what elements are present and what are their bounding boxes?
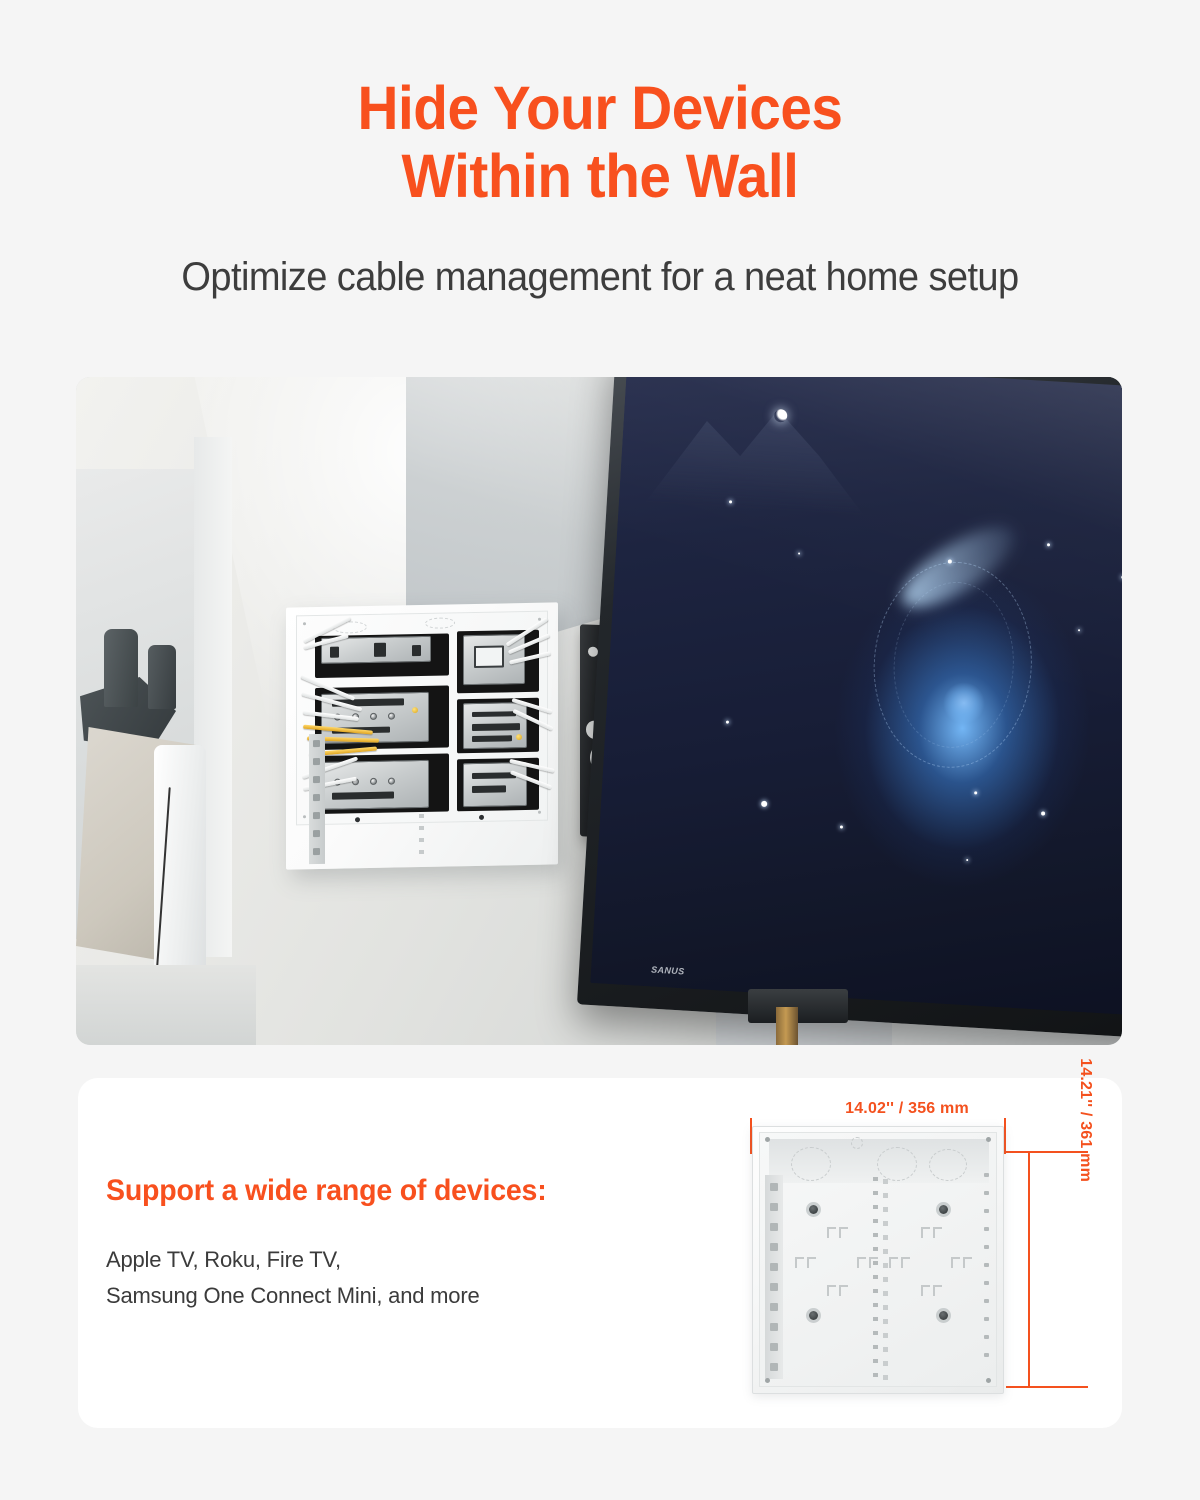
headline-line-2: Within the Wall bbox=[42, 142, 1158, 210]
card-title: Support a wide range of devices: bbox=[106, 1174, 676, 1208]
center-perforations bbox=[873, 1177, 878, 1387]
bracket-slot bbox=[921, 1227, 930, 1238]
dimension-line bbox=[1006, 1386, 1088, 1388]
prop-cylinder-a bbox=[104, 629, 138, 707]
bracket-slot bbox=[921, 1285, 930, 1296]
bracket-slot bbox=[839, 1285, 848, 1296]
mounting-hole bbox=[809, 1205, 818, 1214]
recessed-box-front-view bbox=[752, 1126, 1004, 1394]
bracket-slot bbox=[889, 1257, 898, 1268]
dimension-line bbox=[1004, 1118, 1006, 1154]
tv-mount-base bbox=[748, 989, 848, 1023]
product-dimension-diagram: 14.02'' / 356 mm 14.21'' / 361 mm bbox=[726, 1096, 1098, 1414]
supported-devices-list: Apple TV, Roku, Fire TV, Samsung One Con… bbox=[106, 1242, 706, 1313]
page-title: Hide Your Devices Within the Wall bbox=[42, 74, 1158, 211]
headline-line-1: Hide Your Devices bbox=[42, 74, 1158, 142]
height-dimension-label: 14.21'' / 361 mm bbox=[1076, 1058, 1094, 1182]
in-wall-media-box bbox=[286, 602, 558, 869]
knockout-icon bbox=[791, 1147, 831, 1181]
product-feature-page: Hide Your Devices Within the Wall Optimi… bbox=[0, 0, 1200, 1500]
bracket-slot bbox=[795, 1257, 804, 1268]
prop-white-panel bbox=[154, 745, 206, 995]
screw-holes bbox=[297, 612, 547, 825]
knockout-icon bbox=[851, 1137, 863, 1149]
mounting-rail bbox=[765, 1175, 783, 1379]
bracket-slot bbox=[933, 1227, 942, 1238]
bracket-slot bbox=[827, 1285, 836, 1296]
tv-mount-pole bbox=[776, 1007, 798, 1045]
mounting-hole bbox=[939, 1205, 948, 1214]
bracket-slot bbox=[901, 1257, 910, 1268]
box-top-band bbox=[769, 1139, 989, 1183]
wall-mounted-tv: SANUS bbox=[577, 377, 1122, 1041]
room-floor bbox=[76, 965, 256, 1045]
dimension-line bbox=[1006, 1151, 1088, 1153]
bracket-slot bbox=[839, 1227, 848, 1238]
knockout-icon bbox=[929, 1149, 967, 1181]
hero-scene: SANUS bbox=[76, 377, 1122, 1045]
tv-screen bbox=[590, 377, 1122, 1018]
page-header: Hide Your Devices Within the Wall Optimi… bbox=[0, 0, 1200, 301]
bracket-slot bbox=[963, 1257, 972, 1268]
hero-photo: SANUS bbox=[76, 377, 1122, 1045]
center-perforations bbox=[883, 1179, 888, 1385]
media-box-interior bbox=[296, 611, 548, 826]
list-item: Samsung One Connect Mini, and more bbox=[106, 1278, 706, 1314]
bracket-slot bbox=[827, 1227, 836, 1238]
mounting-hole bbox=[809, 1311, 818, 1320]
screen-mountain bbox=[645, 393, 871, 516]
dimension-line bbox=[1028, 1151, 1030, 1388]
page-subtitle: Optimize cable management for a neat hom… bbox=[30, 253, 1170, 301]
width-dimension-label: 14.02'' / 356 mm bbox=[782, 1100, 1032, 1118]
bracket-slot bbox=[933, 1285, 942, 1296]
bracket-slot bbox=[807, 1257, 816, 1268]
tv-brand-logo: SANUS bbox=[651, 965, 685, 977]
devices-support-card: Support a wide range of devices: Apple T… bbox=[78, 1078, 1122, 1428]
card-text-block: Support a wide range of devices: Apple T… bbox=[106, 1174, 706, 1313]
prop-cylinder-b bbox=[148, 645, 176, 709]
bracket-slot bbox=[951, 1257, 960, 1268]
list-item: Apple TV, Roku, Fire TV, bbox=[106, 1242, 706, 1278]
bracket-slot bbox=[857, 1257, 866, 1268]
knockout-icon bbox=[877, 1147, 917, 1181]
mounting-hole bbox=[939, 1311, 948, 1320]
